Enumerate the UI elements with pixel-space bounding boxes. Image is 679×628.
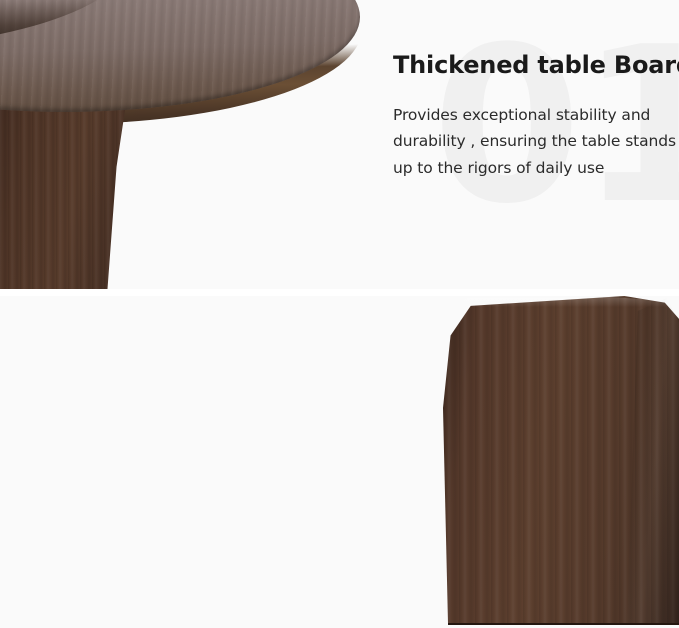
product-photo-table-base — [430, 296, 679, 628]
panel-divider — [0, 289, 679, 296]
feature-description-01: Provides exceptional stability and durab… — [393, 102, 679, 182]
product-photo-table-board — [0, 0, 360, 289]
feature-panel-02: 02 Stable Table Base Enhances support an… — [0, 296, 679, 628]
feature-text-01: Thickened table Board Provides exception… — [393, 52, 679, 182]
table-base-top-highlight — [454, 297, 676, 307]
table-top-surface — [0, 0, 360, 112]
feature-panel-01: 01 Thickened table Board Provides except… — [0, 0, 679, 289]
table-top-edge-shadow — [0, 0, 132, 50]
infographic-page: 01 Thickened table Board Provides except… — [0, 0, 679, 628]
feature-title-01: Thickened table Board — [393, 52, 679, 80]
